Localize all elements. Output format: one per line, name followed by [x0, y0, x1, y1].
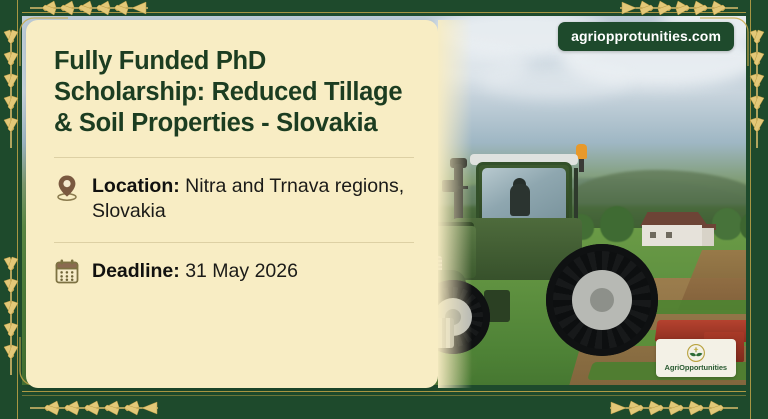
divider	[54, 242, 414, 243]
location-pin-icon	[54, 173, 80, 201]
wheat-stalk-icon	[24, 0, 154, 20]
website-url-badge[interactable]: agriopprotunities.com	[558, 22, 734, 51]
deadline-value: 31 May 2026	[180, 260, 298, 282]
beacon-post	[579, 158, 584, 172]
divider	[54, 157, 414, 158]
wheat-stalk-icon	[0, 253, 24, 383]
location-row: Location: Nitra and Trnava regions, Slov…	[54, 173, 414, 224]
location-text: Location: Nitra and Trnava regions, Slov…	[92, 173, 414, 224]
deadline-label: Deadline:	[92, 260, 180, 282]
rear-wheel	[546, 244, 658, 356]
content-card: Fully Funded PhD Scholarship: Reduced Ti…	[26, 20, 438, 388]
page-title: Fully Funded PhD Scholarship: Reduced Ti…	[54, 46, 414, 139]
wheat-stalk-icon	[24, 395, 164, 419]
deadline-row: Deadline: 31 May 2026	[54, 258, 414, 286]
deadline-text: Deadline: 31 May 2026	[92, 258, 298, 284]
location-label: Location:	[92, 175, 180, 197]
wheat-stalk-icon	[604, 395, 744, 419]
wheat-stalk-icon	[614, 0, 744, 20]
wheat-stalk-icon	[744, 26, 768, 156]
tree-shape	[712, 208, 742, 240]
side-mirror	[442, 180, 458, 192]
leaf-emblem-icon	[685, 344, 707, 362]
driver-body	[510, 184, 530, 216]
wheat-stalk-icon	[0, 26, 24, 156]
cloud-shape	[480, 65, 630, 99]
agriopportunities-logo[interactable]: AgriOpportunities	[656, 339, 736, 377]
scholarship-poster: agriopprotunities.com Fully Funded PhD S…	[0, 0, 768, 419]
wheel-hub	[590, 288, 614, 312]
logo-wordmark: AgriOpportunities	[665, 363, 727, 372]
calendar-icon	[54, 258, 80, 286]
